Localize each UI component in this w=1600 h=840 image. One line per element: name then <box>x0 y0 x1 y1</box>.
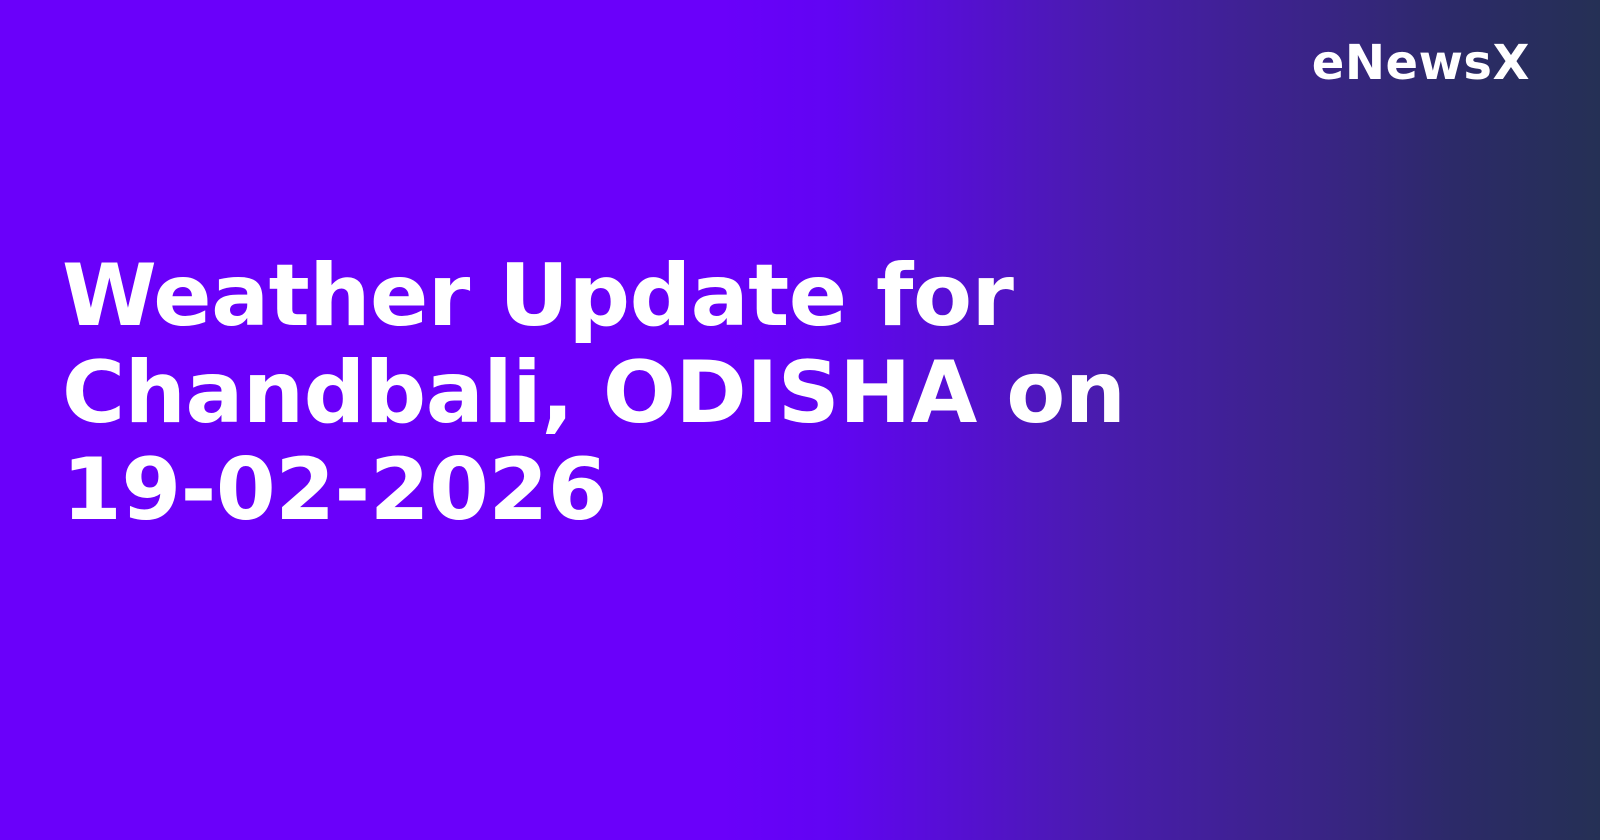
brand-bar: eNewsX <box>0 0 1600 120</box>
page-title: Weather Update for Chandbali, ODISHA on … <box>62 248 1152 540</box>
headline-block: Weather Update for Chandbali, ODISHA on … <box>62 248 1152 540</box>
weather-update-card: eNewsX Weather Update for Chandbali, ODI… <box>0 0 1600 840</box>
enewsx-logo[interactable]: eNewsX <box>1312 39 1530 87</box>
